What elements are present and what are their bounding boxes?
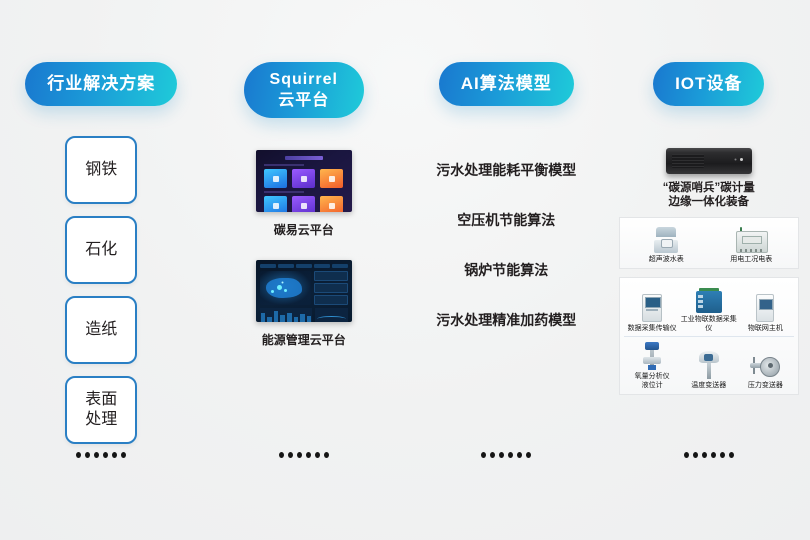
dashboard-side-panels bbox=[314, 271, 347, 305]
dot bbox=[490, 452, 495, 458]
dot bbox=[693, 452, 698, 458]
device-power-meter[interactable]: 用电工况电表 bbox=[723, 223, 779, 264]
column-header-industry-solutions[interactable]: 行业解决方案 bbox=[25, 62, 177, 106]
column-industry-solutions: 行业解决方案 钢铁 石化 造纸 表面 处理 bbox=[0, 0, 203, 540]
energy-dashboard-screenshot bbox=[256, 260, 352, 322]
line-chart-visual bbox=[315, 308, 348, 322]
industry-item-label: 表面 处理 bbox=[85, 390, 117, 430]
dot bbox=[94, 452, 99, 458]
device-label: 压力变送器 bbox=[748, 381, 783, 390]
dot bbox=[729, 452, 734, 458]
header-label-line1: IOT设备 bbox=[675, 62, 742, 106]
industry-item-surface-treatment[interactable]: 表面 处理 bbox=[65, 376, 137, 444]
dot bbox=[526, 452, 531, 458]
dashboard-tile-row bbox=[262, 196, 346, 212]
dot bbox=[288, 452, 293, 458]
oxygen-analyzer-icon bbox=[639, 340, 665, 370]
platform-caption: 能源管理云平台 bbox=[262, 331, 346, 348]
dashboard-tile bbox=[320, 169, 343, 188]
dot bbox=[315, 452, 320, 458]
header-label-line1: 行业解决方案 bbox=[47, 62, 155, 106]
platform-list: 碳易云平台 bbox=[203, 150, 406, 348]
dot bbox=[702, 452, 707, 458]
column-header-ai-models[interactable]: AI算法模型 bbox=[439, 62, 574, 106]
dot bbox=[324, 452, 329, 458]
dot bbox=[499, 452, 504, 458]
platform-caption: 碳易云平台 bbox=[274, 221, 334, 238]
industry-item-label: 造纸 bbox=[85, 320, 117, 340]
header-wrap-industry: 行业解决方案 bbox=[0, 62, 203, 106]
dot bbox=[711, 452, 716, 458]
header-wrap-ai: AI算法模型 bbox=[405, 62, 608, 106]
china-map-visual bbox=[260, 271, 312, 305]
dot bbox=[306, 452, 311, 458]
dot bbox=[103, 452, 108, 458]
model-item-air-compressor-saving[interactable]: 空压机节能算法 bbox=[457, 210, 555, 230]
columns-container: 行业解决方案 钢铁 石化 造纸 表面 处理 bbox=[0, 0, 810, 540]
industrial-iot-collector-icon bbox=[696, 283, 722, 313]
hero-caption-line1: “碳源哨兵”碳计量 bbox=[663, 181, 755, 195]
device-label: 温度变送器 bbox=[691, 381, 726, 390]
device-label: 超声波水表 bbox=[649, 255, 684, 264]
data-acquisition-transmitter-icon bbox=[642, 292, 662, 322]
device-row: 数据采集传输仪 工业物联数据采集仪 物联网主机 bbox=[624, 283, 794, 337]
bar-chart-visual bbox=[260, 308, 312, 322]
more-dots-industry bbox=[0, 452, 203, 458]
device-ultrasonic-water-meter[interactable]: 超声波水表 bbox=[638, 223, 694, 264]
dashboard-header-chips bbox=[260, 264, 348, 268]
platform-card-energy[interactable]: 能源管理云平台 bbox=[256, 260, 352, 348]
diagram-canvas: 行业解决方案 钢铁 石化 造纸 表面 处理 bbox=[0, 0, 810, 540]
dashboard-tile bbox=[264, 169, 287, 188]
industry-item-steel[interactable]: 钢铁 bbox=[65, 136, 137, 204]
dashboard-tile bbox=[264, 196, 287, 212]
device-label: 数据采集传输仪 bbox=[628, 324, 677, 333]
industry-item-label: 钢铁 bbox=[85, 160, 117, 180]
ultrasonic-water-meter-icon bbox=[654, 223, 678, 253]
dot bbox=[517, 452, 522, 458]
industry-box-list: 钢铁 石化 造纸 表面 处理 bbox=[0, 136, 203, 444]
column-header-squirrel-cloud[interactable]: Squirrel 云平台 bbox=[244, 62, 364, 118]
header-wrap-cloud: Squirrel 云平台 bbox=[203, 62, 406, 118]
pressure-transmitter-icon bbox=[750, 349, 780, 379]
hero-device-caption: “碳源哨兵”碳计量 边缘一体化装备 bbox=[663, 181, 755, 209]
iot-host-icon bbox=[756, 292, 774, 322]
dot bbox=[481, 452, 486, 458]
temperature-transmitter-icon bbox=[698, 349, 720, 379]
dot bbox=[720, 452, 725, 458]
device-industrial-iot-collector[interactable]: 工业物联数据采集仪 bbox=[681, 283, 737, 333]
platform-card-carbon[interactable]: 碳易云平台 bbox=[256, 150, 352, 238]
device-temperature-transmitter[interactable]: 温度变送器 bbox=[681, 349, 737, 390]
more-dots-iot bbox=[608, 452, 810, 458]
device-label: 氧量分析仪 液位计 bbox=[635, 372, 670, 390]
industry-item-papermaking[interactable]: 造纸 bbox=[65, 296, 137, 364]
header-label-line2: 云平台 bbox=[278, 90, 329, 111]
device-data-acquisition-transmitter[interactable]: 数据采集传输仪 bbox=[624, 292, 680, 333]
device-label: 物联网主机 bbox=[748, 324, 783, 333]
column-header-iot-devices[interactable]: IOT设备 bbox=[653, 62, 764, 106]
header-wrap-iot: IOT设备 bbox=[608, 62, 810, 106]
dashboard-tile bbox=[292, 196, 315, 212]
carbon-dashboard-screenshot bbox=[256, 150, 352, 212]
dot bbox=[121, 452, 126, 458]
power-meter-icon bbox=[736, 223, 766, 253]
hero-caption-line2: 边缘一体化装备 bbox=[663, 195, 755, 209]
dashboard-tile bbox=[320, 196, 343, 212]
device-pressure-transmitter[interactable]: 压力变送器 bbox=[737, 349, 793, 390]
column-iot-devices: IOT设备 “碳源哨兵”碳计量 边缘一体化装备 超声波水表 bbox=[608, 0, 810, 540]
dashboard-section-label bbox=[264, 164, 304, 166]
model-item-boiler-saving[interactable]: 锅炉节能算法 bbox=[464, 260, 548, 280]
dashboard-title-bar bbox=[285, 156, 323, 160]
dot bbox=[279, 452, 284, 458]
device-label: 用电工况电表 bbox=[730, 255, 772, 264]
iot-content: “碳源哨兵”碳计量 边缘一体化装备 超声波水表 bbox=[608, 148, 810, 395]
dashboard-body bbox=[260, 271, 348, 305]
more-dots-ai bbox=[405, 452, 608, 458]
model-list: 污水处理能耗平衡模型 空压机节能算法 锅炉节能算法 污水处理精准加药模型 bbox=[405, 160, 608, 330]
dashboard-tile-row bbox=[262, 169, 346, 188]
dashboard-bottom-row bbox=[260, 308, 348, 322]
device-row: 氧量分析仪 液位计 温度变送器 压力变送器 bbox=[624, 340, 794, 390]
column-squirrel-cloud: Squirrel 云平台 bbox=[203, 0, 406, 540]
model-item-wastewater-energy-balance[interactable]: 污水处理能耗平衡模型 bbox=[436, 160, 576, 180]
dashboard-section-label bbox=[264, 191, 304, 193]
dot bbox=[297, 452, 302, 458]
dot bbox=[85, 452, 90, 458]
dot bbox=[684, 452, 689, 458]
device-panel-bottom: 数据采集传输仪 工业物联数据采集仪 物联网主机 bbox=[619, 277, 799, 395]
rack-server-icon bbox=[666, 148, 752, 174]
device-label: 工业物联数据采集仪 bbox=[681, 315, 737, 333]
industry-item-label: 石化 bbox=[85, 240, 117, 260]
dot bbox=[112, 452, 117, 458]
model-item-wastewater-precise-dosing[interactable]: 污水处理精准加药模型 bbox=[436, 310, 576, 330]
header-label-line1: AI算法模型 bbox=[461, 62, 552, 106]
column-ai-models: AI算法模型 污水处理能耗平衡模型 空压机节能算法 锅炉节能算法 污水处理精准加… bbox=[405, 0, 608, 540]
dashboard-tile bbox=[292, 169, 315, 188]
industry-item-petrochemical[interactable]: 石化 bbox=[65, 216, 137, 284]
more-dots-cloud bbox=[203, 452, 406, 458]
header-label-line1: Squirrel bbox=[270, 69, 338, 90]
device-row: 超声波水表 用电工况电表 bbox=[624, 223, 794, 264]
dot bbox=[508, 452, 513, 458]
dot bbox=[76, 452, 81, 458]
device-iot-host[interactable]: 物联网主机 bbox=[737, 292, 793, 333]
device-oxygen-analyzer[interactable]: 氧量分析仪 液位计 bbox=[624, 340, 680, 390]
device-panel-top: 超声波水表 用电工况电表 bbox=[619, 217, 799, 269]
